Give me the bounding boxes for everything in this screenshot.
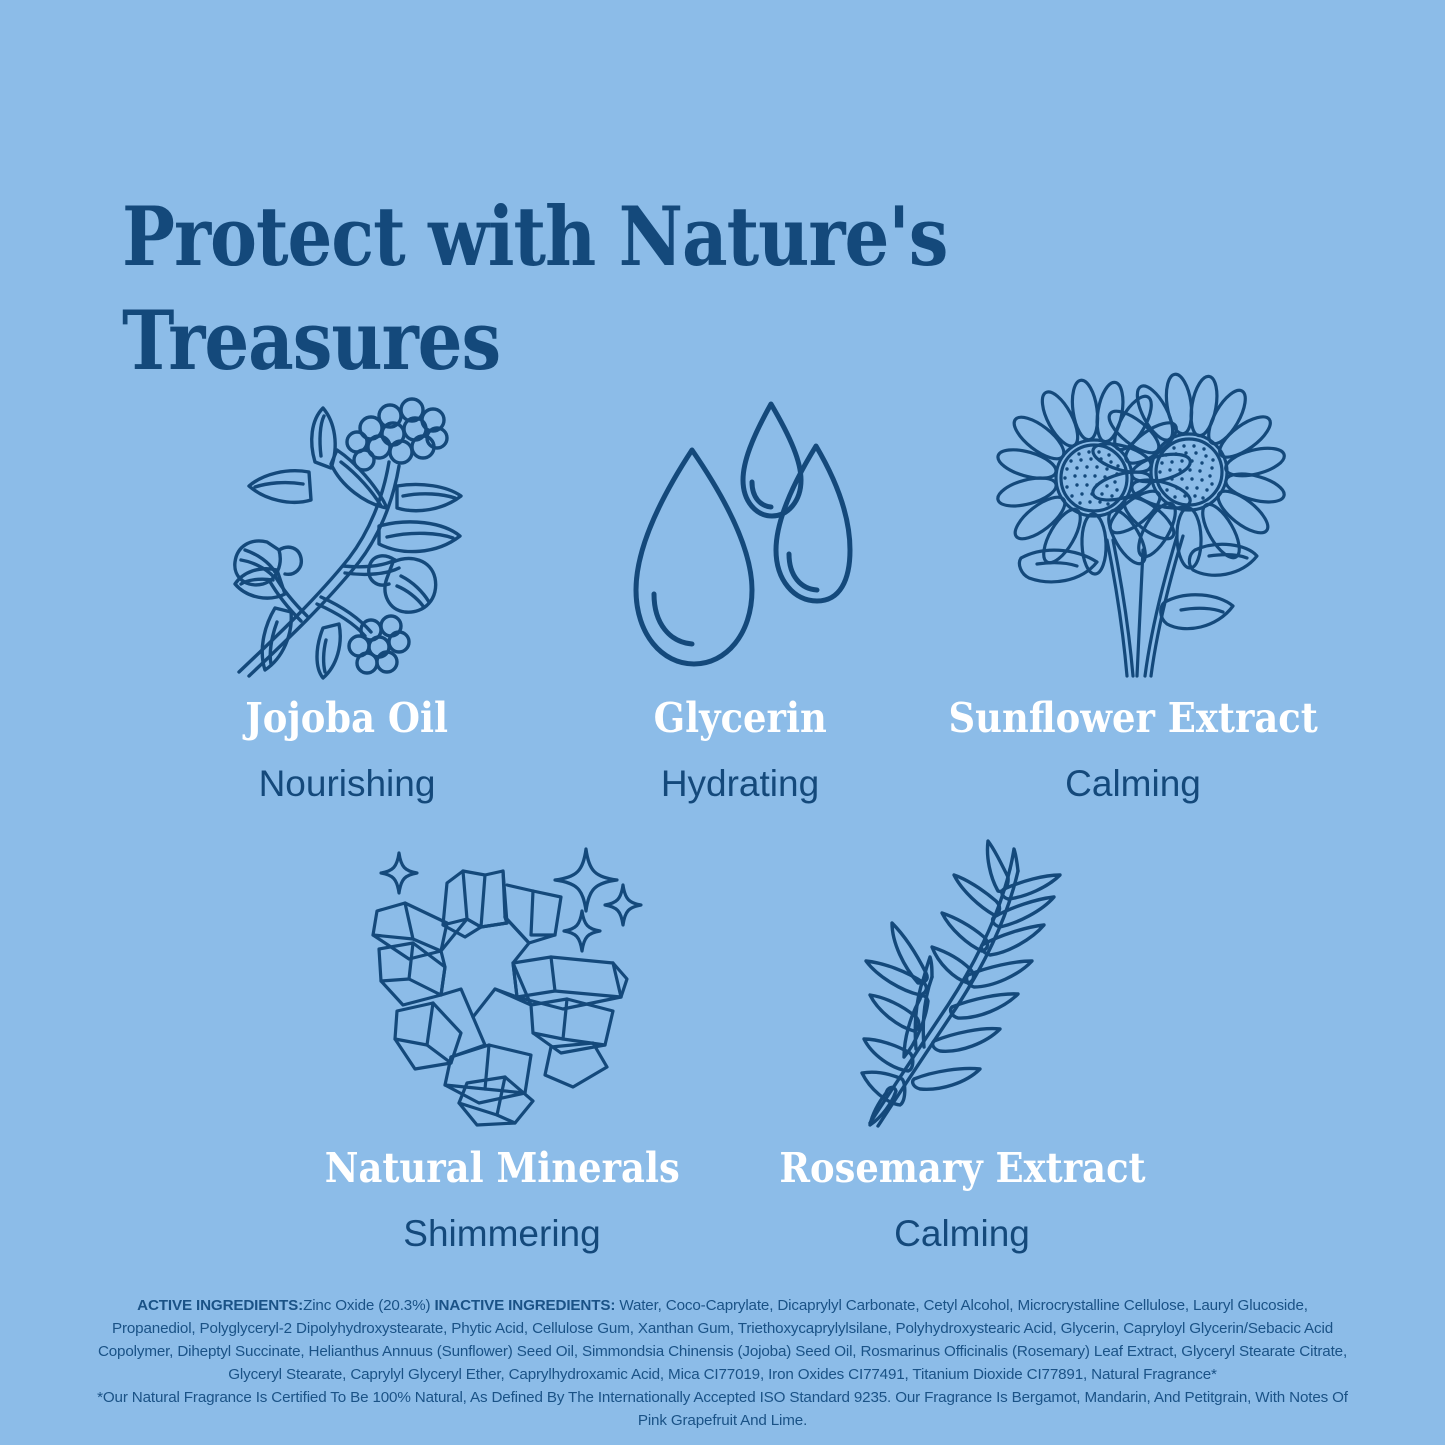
ingredient-card-natural-minerals: Natural Minerals Shimmering [272,838,732,1252]
ingredient-name: Glycerin [653,698,826,739]
ingredient-benefit: Hydrating [661,765,819,802]
active-ingredients-label: ACTIVE INGREDIENTS: [137,1297,303,1314]
sunflowers-icon [1007,388,1259,680]
ingredient-card-sunflower-extract: Sunflower Extract Calming [937,388,1330,802]
water-droplets-icon [628,388,852,680]
ingredient-name: Rosemary Extract [779,1148,1145,1189]
ingredient-benefit: Calming [894,1215,1030,1252]
ingredient-row-bottom: Natural Minerals Shimmering [272,838,1192,1252]
mineral-crystals-icon [355,838,649,1130]
ingredient-name: Jojoba Oil [246,698,449,739]
ingredient-benefit: Calming [1065,765,1201,802]
ingredients-list-paragraph: ACTIVE INGREDIENTS:Zinc Oxide (20.3%) IN… [96,1294,1349,1386]
rosemary-sprig-icon [858,838,1066,1130]
fragrance-footnote: *Our Natural Fragrance Is Certified To B… [96,1386,1349,1432]
active-ingredients-value: Zinc Oxide (20.3%) [303,1297,434,1314]
ingredient-card-rosemary-extract: Rosemary Extract Calming [732,838,1192,1252]
ingredient-card-jojoba-oil: Jojoba Oil Nourishing [151,388,544,802]
ingredient-name: Sunflower Extract [948,698,1317,739]
jojoba-branch-icon [231,388,463,680]
inactive-ingredients-label: INACTIVE INGREDIENTS: [434,1297,615,1314]
ingredients-fine-print: ACTIVE INGREDIENTS:Zinc Oxide (20.3%) IN… [96,1294,1349,1433]
page-title: Protect with Nature's Treasures [122,186,949,393]
product-ingredients-panel: Protect with Nature's Treasures [0,0,1445,1445]
ingredient-card-glycerin: Glycerin Hydrating [544,388,937,802]
ingredient-row-top: Jojoba Oil Nourishing Glycerin Hydr [150,388,1330,802]
ingredient-benefit: Shimmering [403,1215,600,1252]
ingredient-benefit: Nourishing [259,765,436,802]
ingredient-name: Natural Minerals [324,1148,679,1189]
